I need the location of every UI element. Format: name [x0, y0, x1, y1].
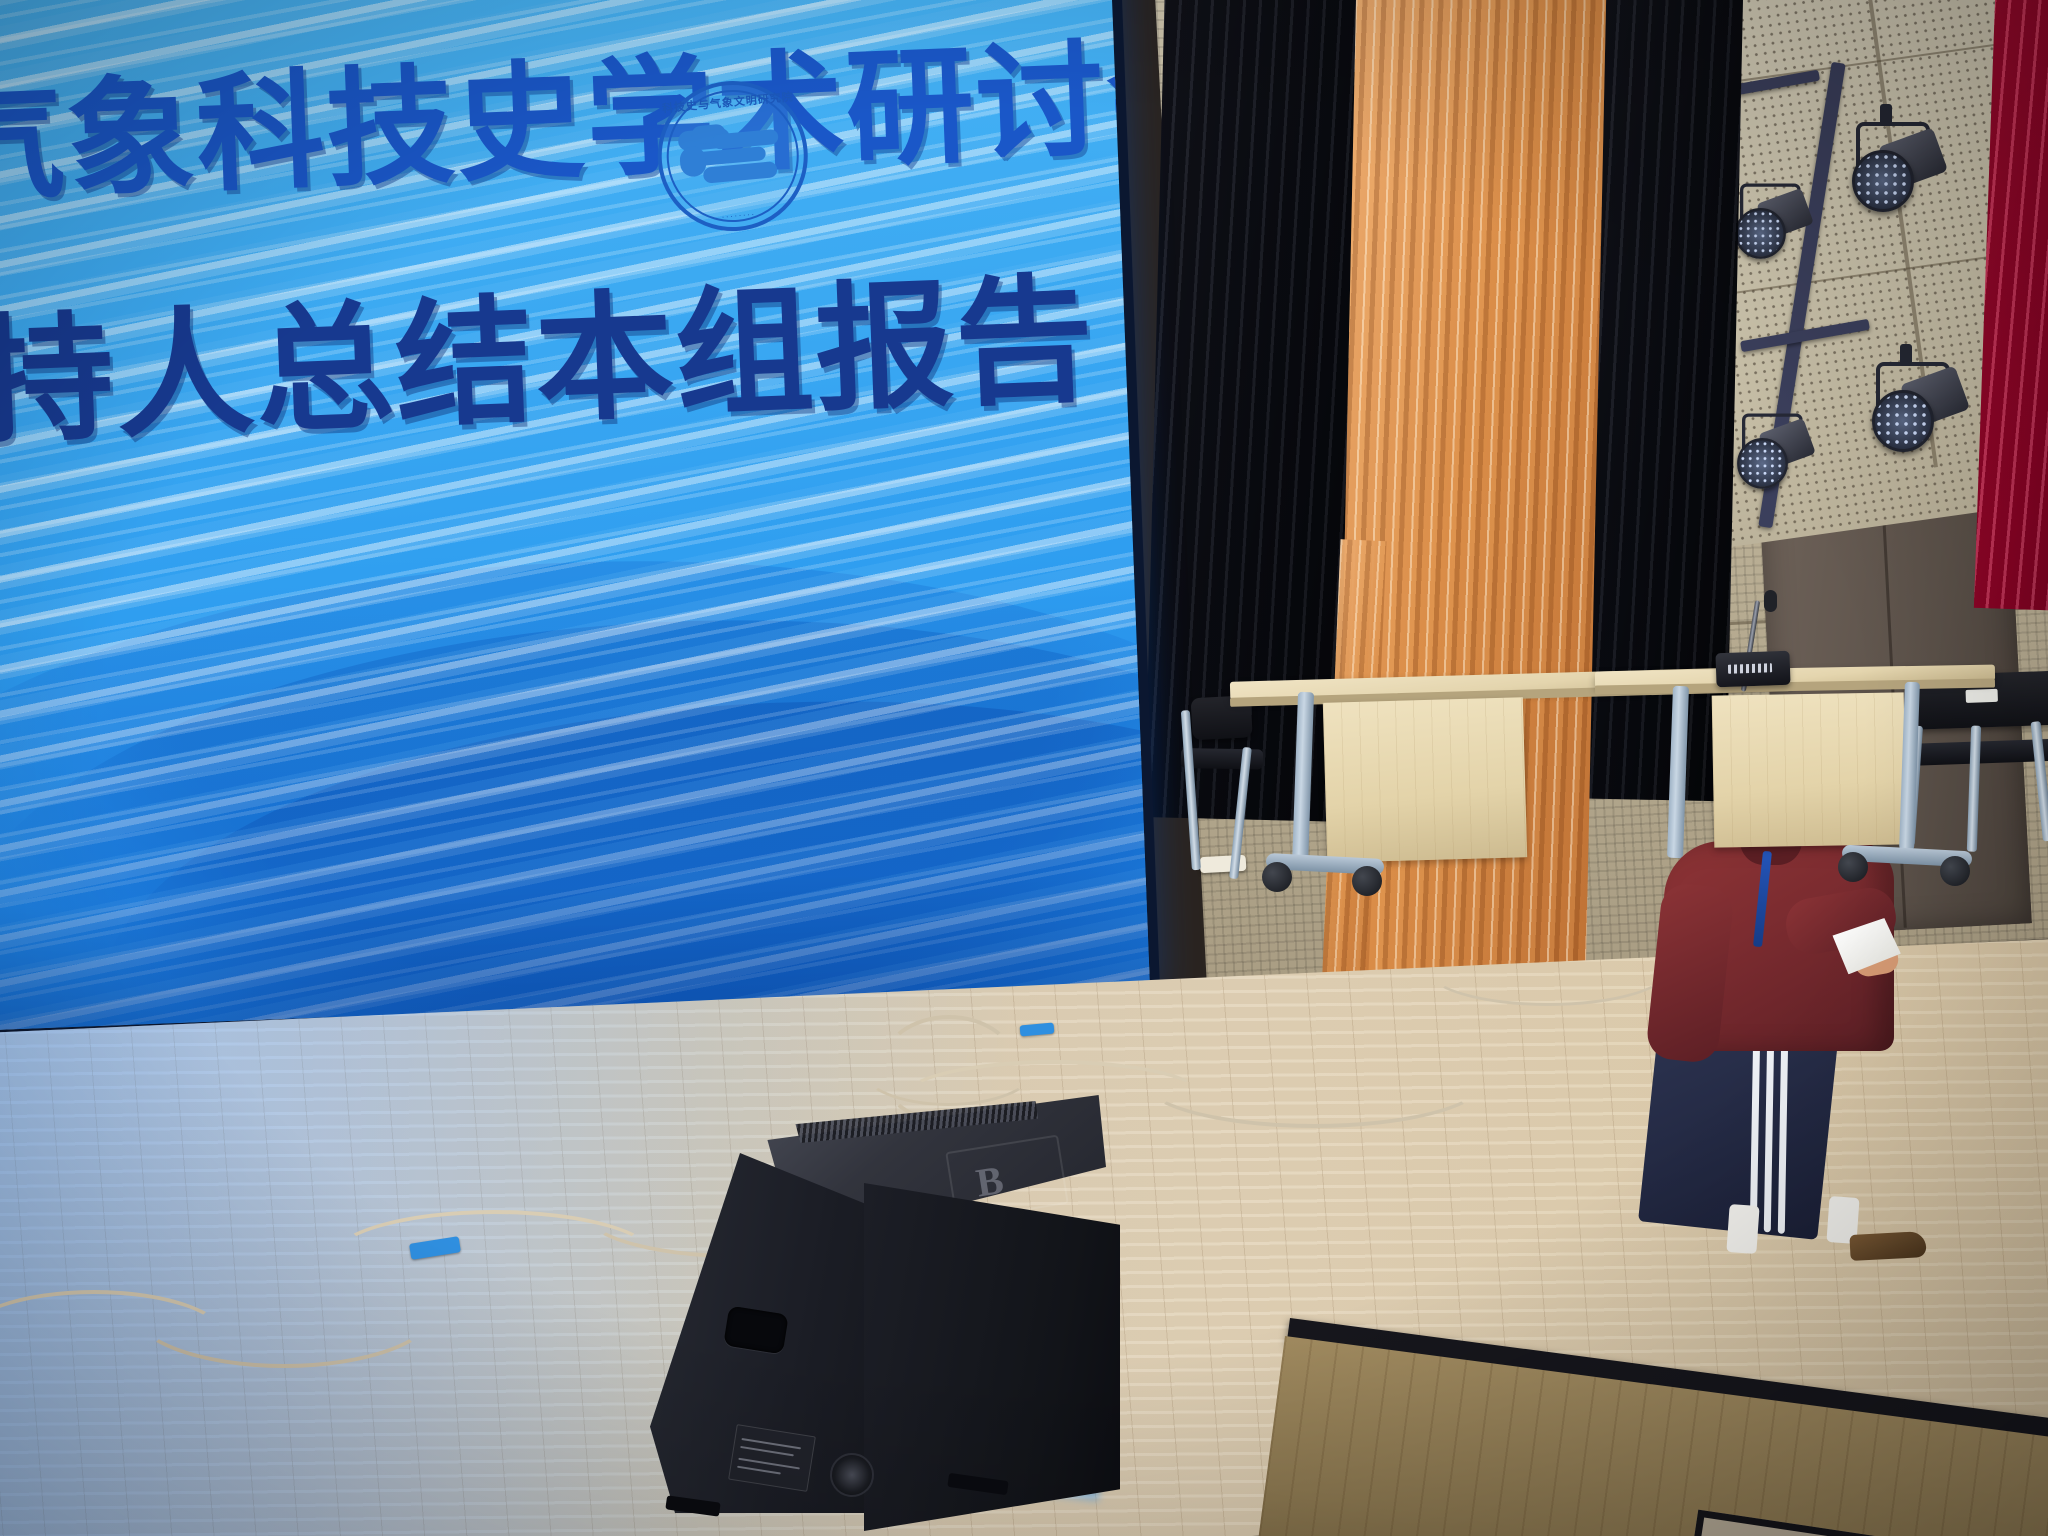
mic-capsule — [1764, 590, 1777, 612]
emblem-cloud-wave-icon — [675, 118, 791, 194]
table-caster — [1838, 852, 1868, 882]
stage-scene: 国气象科技史学术研讨会 主持人总结本组报告 科技史与气象文明研究院 · · · … — [0, 0, 2048, 1536]
floor-cable — [1425, 930, 1671, 1006]
screen-bottom-glow — [0, 583, 1150, 1033]
table-modesty-panel — [1323, 697, 1527, 863]
stage-monitor-speaker: B — [650, 1095, 1120, 1515]
table-caster — [1940, 856, 1970, 886]
presenter-shoe — [1849, 1231, 1926, 1261]
table-modesty-panel — [1712, 692, 1907, 847]
mic-base-label — [1728, 663, 1772, 674]
table-caster — [1262, 862, 1292, 892]
institute-emblem-icon: 科技史与气象文明研究院 · · · · · · · · — [651, 75, 814, 238]
speaker-brand-letter: B — [973, 1156, 1007, 1207]
table-caster — [1352, 866, 1382, 896]
screen-surface: 国气象科技史学术研讨会 主持人总结本组报告 科技史与气象文明研究院 · · · … — [0, 0, 1150, 1034]
stage-front-recessed-panel — [1658, 1510, 1910, 1536]
presenter-sock — [1726, 1204, 1759, 1254]
led-video-wall: 国气象科技史学术研讨会 主持人总结本组报告 科技史与气象文明研究院 · · · … — [0, 0, 1160, 1044]
